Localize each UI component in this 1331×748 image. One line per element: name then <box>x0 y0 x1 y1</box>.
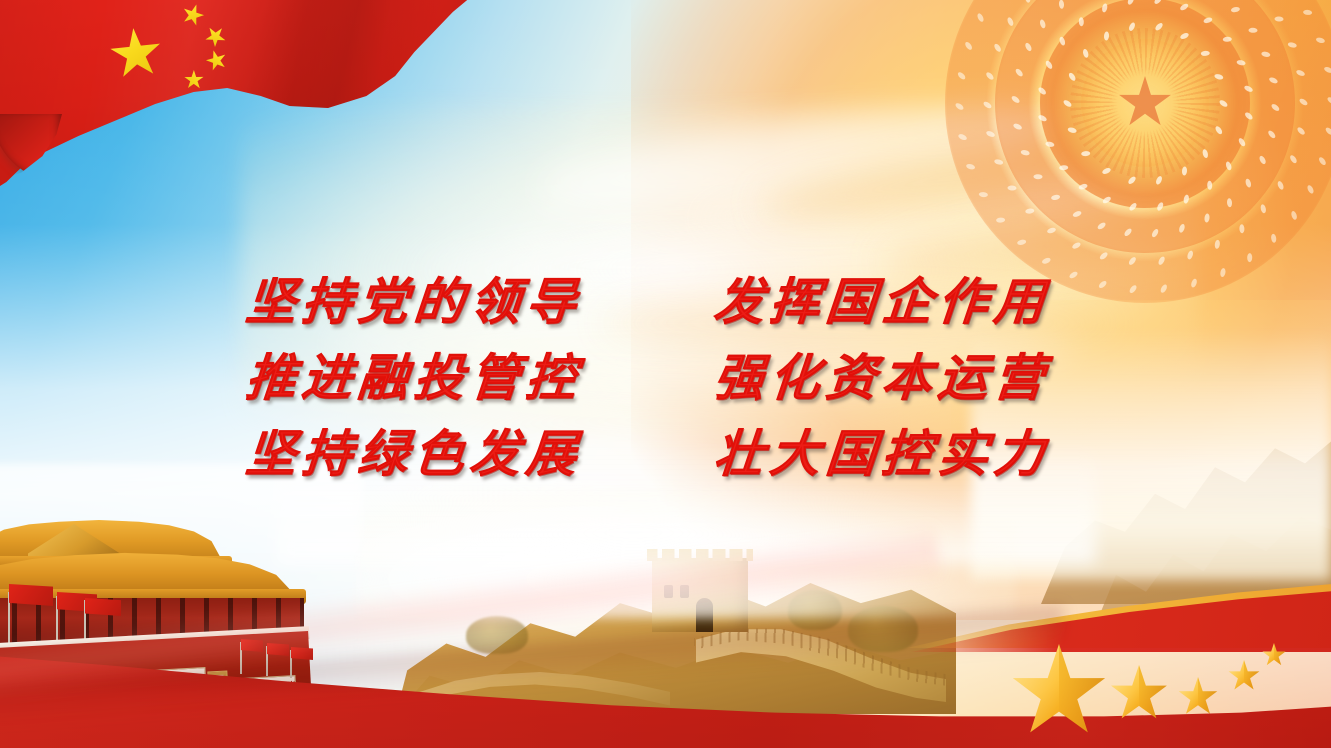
gold-star-facet-dark <box>1228 660 1260 692</box>
slogan-col-left: 坚持绿色发展 <box>246 418 610 490</box>
slogan-row: 坚持绿色发展 壮大国控实力 <box>246 418 1086 490</box>
slogan-col-right: 发挥国企作用 <box>714 266 1078 338</box>
slogan-1-right: 发挥国企作用 <box>711 266 1081 338</box>
slogan-col-right: 壮大国控实力 <box>714 418 1078 490</box>
slogan-col-left: 推进融投管控 <box>246 342 610 414</box>
slogan-1-left: 坚持党的领导 <box>243 266 613 338</box>
tiananmen-red-flag <box>85 598 121 616</box>
slogan-2-left: 推进融投管控 <box>243 342 613 414</box>
slogan-row: 坚持党的领导 发挥国企作用 <box>246 266 1086 338</box>
gold-star-1 <box>1011 644 1107 740</box>
slogan-row: 推进融投管控 强化资本运营 <box>246 342 1086 414</box>
slogan-col-right: 强化资本运营 <box>714 342 1078 414</box>
slogan-2-right: 强化资本运营 <box>711 342 1081 414</box>
gold-star-facet-dark <box>1110 665 1168 723</box>
gold-star-facet-dark <box>1262 643 1286 667</box>
chinese-flag-icon <box>0 0 472 188</box>
slogan-block: 坚持党的领导 发挥国企作用 推进融投管控 强化资本运营 坚持绿色发展 壮大国控实… <box>246 266 1086 494</box>
slogan-col-left: 坚持党的领导 <box>246 266 610 338</box>
flag-cloth <box>0 0 472 188</box>
gold-star-facet-dark <box>1011 644 1107 740</box>
slogan-3-right: 壮大国控实力 <box>711 418 1081 490</box>
tiananmen-red-flag <box>9 584 53 606</box>
gold-star-4 <box>1228 660 1260 692</box>
gold-star-5 <box>1262 643 1286 667</box>
gold-star-3 <box>1178 677 1218 717</box>
poster-canvas: 中华人民共和国万岁 世界人民大团结万岁 <box>0 0 1331 748</box>
slogan-3-left: 坚持绿色发展 <box>243 418 613 490</box>
gold-star-2 <box>1110 665 1168 723</box>
gold-star-facet-dark <box>1178 677 1218 717</box>
